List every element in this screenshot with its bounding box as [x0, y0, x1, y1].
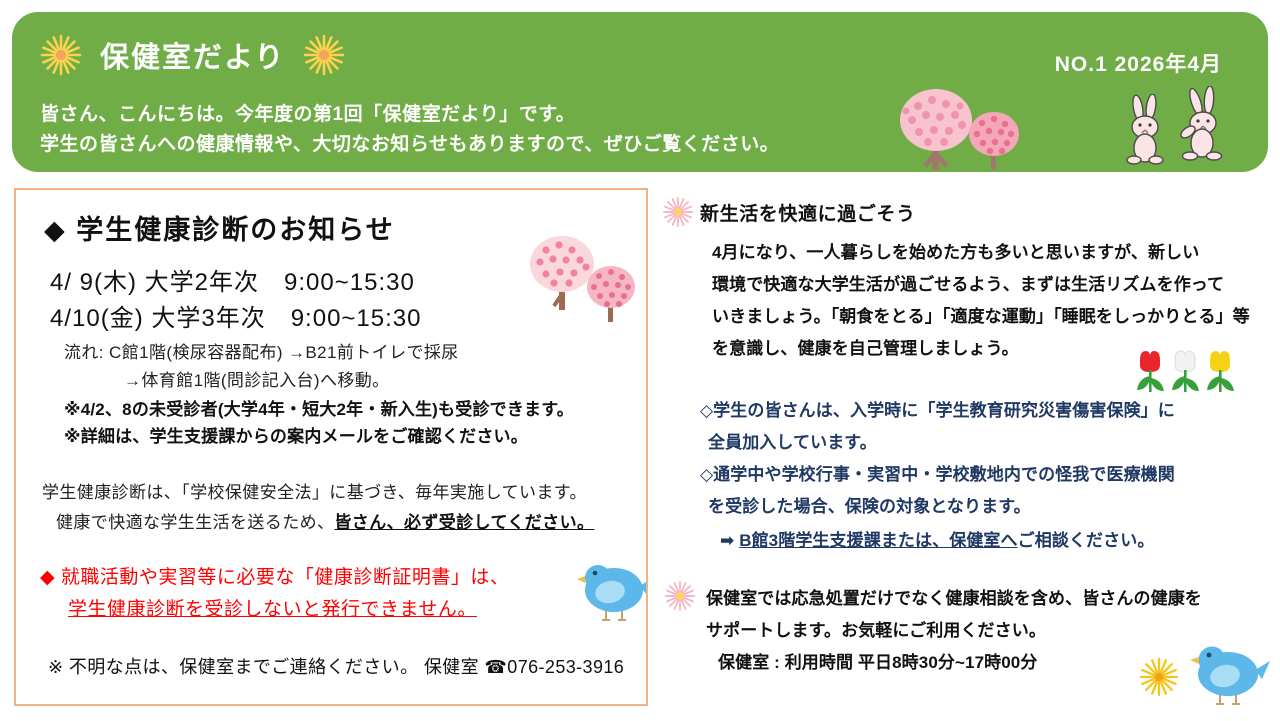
checkup-paragraph-line-2: 健康で快適な学生生活を送るため、皆さん、必ず受診してください。: [56, 508, 594, 533]
paragraph-plain-part: 健康で快適な学生生活を送るため、: [56, 513, 334, 532]
paragraph-underlined-part: 皆さん、必ず受診してください。: [334, 513, 594, 532]
banner-lead-line-2: 学生の皆さんへの健康情報や、大切なお知らせもありますので、ぜひご覧ください。: [40, 130, 779, 160]
section-heading-new-life: 新生活を快適に過ごそう: [700, 199, 916, 226]
blue-bird-icon: [1188, 640, 1272, 721]
card-contact-line: ※ 不明な点は、保健室までご連絡ください。 保健室 ☎076-253-3916: [48, 653, 624, 679]
health-room-line-1: 保健室では応急処置だけでなく健康相談を含め、皆さんの健康を: [706, 584, 1202, 609]
banner-title-row: 保健室だより: [40, 34, 345, 76]
header-banner: 保健室だより: [12, 12, 1268, 172]
checkup-note-line-1: ※4/2、8の未受診者(大学4年・短大2年・新入生)も受診できます。: [64, 395, 574, 420]
rabbit-icon: [1174, 86, 1230, 171]
cherry-blossom-tree-icon: [582, 262, 642, 329]
health-room-hours: 保健室 : 利用時間 平日8時30分~17時00分: [718, 648, 1037, 673]
newsletter-page: 保健室だより: [0, 0, 1280, 720]
insurance-line-4: を受診した場合、保険の対象となります。: [708, 492, 1031, 517]
card-title: ◆ 学生健康診断のお知らせ: [44, 208, 395, 247]
certificate-warning-line-2: 学生健康診断を受診しないと発行できません。: [68, 594, 477, 621]
checkup-flow-line-2: →体育館1階(問診記入台)へ移動。: [124, 366, 390, 391]
right-arrow-icon: ➡: [720, 531, 734, 550]
health-room-line-2: サポートします。お気軽にご利用ください。: [706, 616, 1046, 641]
checkup-date-line-1: 4/ 9(木) 大学2年次 9:00~15:30: [50, 262, 415, 297]
banner-title: 保健室だより: [100, 34, 285, 76]
tulip-icon: [1128, 340, 1240, 403]
new-life-line-2: 環境で快適な大学生活が過ごせるよう、まずは生活リズムを作って: [712, 270, 1224, 295]
cherry-blossom-tree-icon: [964, 108, 1026, 172]
insurance-contact-line: ➡ B館3階学生支援課または、保健室へご相談ください。: [720, 526, 1154, 551]
new-life-line-3: いきましょう。「朝食をとる」「適度な運動」「睡眠をしっかりとる」等: [712, 302, 1250, 327]
issue-label: NO.1 2026年4月: [1055, 48, 1222, 78]
yellow-daisy-icon: [303, 34, 345, 76]
health-checkup-card: ◆ 学生健康診断のお知らせ 4/ 9(木) 大学2年次 9:00~15:30 4…: [14, 188, 648, 706]
banner-lead: 皆さん、こんにちは。今年度の第1回「保健室だより」です。 学生の皆さんへの健康情…: [40, 100, 779, 160]
rabbit-icon: [1120, 94, 1172, 171]
checkup-flow-line-1: 流れ: C館1階(検尿容器配布) →B21前トイレで採尿: [64, 338, 459, 363]
support-office-link[interactable]: B館3階学生支援課または、保健室へ: [739, 531, 1017, 550]
yellow-daisy-icon: [40, 34, 82, 76]
insurance-line-2: 全員加入しています。: [708, 428, 877, 453]
insurance-line-1: ◇学生の皆さんは、入学時に「学生教育研究災害傷害保険」に: [700, 396, 1175, 421]
banner-lead-line-1: 皆さん、こんにちは。今年度の第1回「保健室だより」です。: [40, 100, 779, 130]
pink-daisy-icon: [664, 580, 696, 612]
certificate-warning-line-1: ◆ 就職活動や実習等に必要な「健康診断証明書」は、: [40, 562, 509, 589]
new-life-line-1: 4月になり、一人暮らしを始めた方も多いと思いますが、新しい: [712, 238, 1199, 263]
insurance-line-3: ◇通学中や学校行事・実習中・学校敷地内での怪我で医療機関: [700, 460, 1175, 485]
checkup-date-line-2: 4/10(金) 大学3年次 9:00~15:30: [50, 298, 422, 333]
blue-bird-icon: [576, 558, 648, 635]
support-office-tail: ご相談ください。: [1018, 531, 1155, 550]
right-column: 新生活を快適に過ごそう 4月になり、一人暮らしを始めた方も多いと思いますが、新し…: [660, 188, 1272, 706]
new-life-line-4: を意識し、健康を自己管理しましょう。: [712, 334, 1019, 359]
yellow-daisy-icon: [1138, 656, 1180, 698]
checkup-paragraph-line-1: 学生健康診断は、「学校保健安全法」に基づき、毎年実施しています。: [42, 478, 587, 503]
checkup-note-line-2: ※詳細は、学生支援課からの案内メールをご確認ください。: [64, 422, 528, 447]
pink-daisy-icon: [662, 196, 694, 228]
